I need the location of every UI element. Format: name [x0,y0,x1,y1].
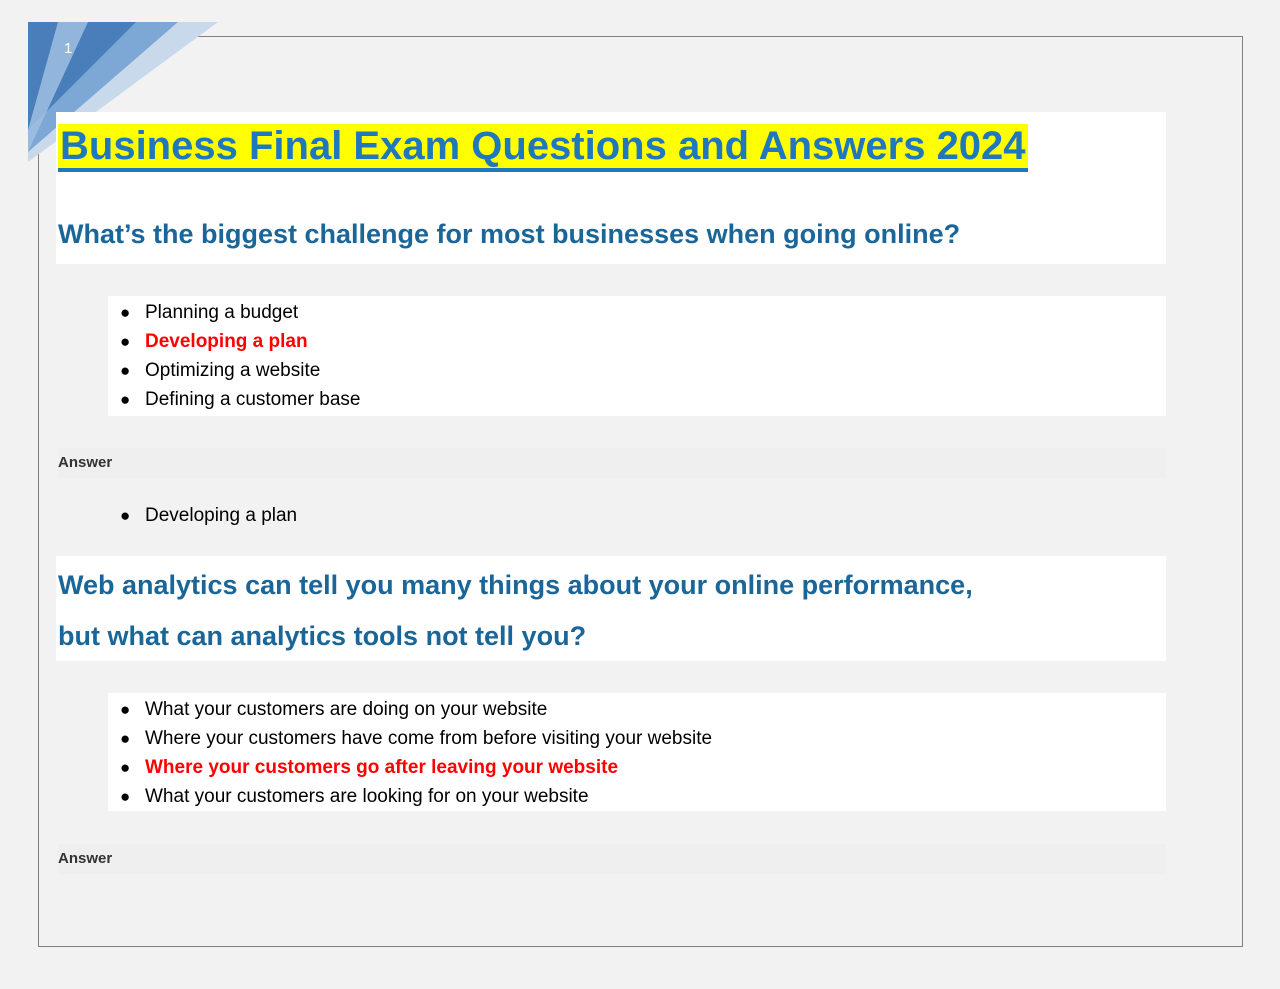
question-1-answer-band [58,448,1166,478]
bullet-dot-icon: ● [120,753,130,782]
slide-number: 1 [64,41,72,56]
bullet-dot-icon: ● [120,298,130,327]
bullet-dot-icon: ● [120,782,130,811]
bullet-dot-icon: ● [120,356,130,385]
question-2-answer-band [58,844,1166,874]
question-1-options-list: ●Planning a budget ●Developing a plan ●O… [108,298,360,414]
bullet-dot-icon: ● [120,501,130,530]
list-item[interactable]: ●Optimizing a website [108,356,360,385]
option-label: Where your customers have come from befo… [145,728,712,749]
option-label: Developing a plan [145,331,308,352]
list-item[interactable]: ●What your customers are doing on your w… [108,695,712,724]
page-title: Business Final Exam Questions and Answer… [58,117,1158,175]
question-1-heading: What’s the biggest challenge for most bu… [58,215,1158,253]
question-2-heading-line-1: Web analytics can tell you many things a… [58,560,1158,611]
option-label: What your customers are doing on your we… [145,699,547,720]
option-label: What your customers are looking for on y… [145,786,589,807]
answer-label: Answer [58,849,112,869]
list-item[interactable]: ●What your customers are looking for on … [108,782,712,811]
page-title-text: Business Final Exam Questions and Answer… [58,124,1028,172]
list-item[interactable]: ●Where your customers have come from bef… [108,724,712,753]
option-label: Where your customers go after leaving yo… [145,757,618,778]
question-2-heading: Web analytics can tell you many things a… [58,560,1158,662]
answer-label: Answer [58,453,112,473]
question-1-answer-list: ●Developing a plan [108,501,297,530]
list-item: ●Developing a plan [108,501,297,530]
option-label: Planning a budget [145,302,298,323]
bullet-dot-icon: ● [120,327,130,356]
bullet-dot-icon: ● [120,695,130,724]
list-item[interactable]: ●Planning a budget [108,298,360,327]
option-label: Defining a customer base [145,389,360,410]
answer-text: Developing a plan [145,505,297,526]
option-label: Optimizing a website [145,360,320,381]
bullet-dot-icon: ● [120,385,130,414]
list-item[interactable]: ●Defining a customer base [108,385,360,414]
bullet-dot-icon: ● [120,724,130,753]
list-item[interactable]: ●Where your customers go after leaving y… [108,753,712,782]
list-item[interactable]: ●Developing a plan [108,327,360,356]
question-2-heading-line-2: but what can analytics tools not tell yo… [58,611,1158,662]
question-2-options-list: ●What your customers are doing on your w… [108,695,712,811]
